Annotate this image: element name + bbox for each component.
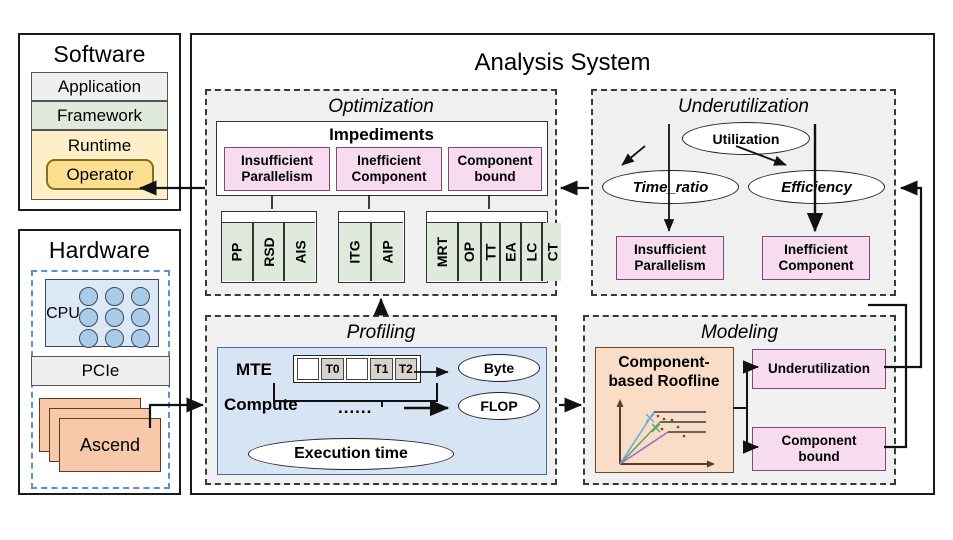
pcie-label: PCIe: [82, 361, 120, 381]
impediment-label-line1: Insufficient: [241, 153, 313, 169]
modeling-section: Modeling Component- based Roofline: [583, 315, 896, 485]
outcome-inefficient-component[interactable]: Inefficient Component: [762, 236, 870, 280]
roofline-label-line2: based Roofline: [608, 373, 719, 392]
utilization-node-label: Utilization: [713, 131, 780, 147]
modeling-output-label-line1: Component: [782, 433, 857, 449]
metric-tab-lc[interactable]: LC: [521, 223, 542, 281]
software-layer-framework-label: Framework: [57, 106, 142, 126]
software-layer-operator-label: Operator: [66, 165, 133, 185]
timeline-cell-t0[interactable]: T0: [321, 358, 343, 380]
cpu-core-dot: [105, 308, 124, 327]
impediment-label-line2: bound: [474, 169, 515, 185]
outcome-label-line1: Inefficient: [784, 242, 848, 258]
roofline-card-label: Component- based Roofline: [596, 352, 732, 394]
efficiency-node-label: Efficiency: [781, 179, 852, 196]
metric-tab-ct[interactable]: CT: [542, 223, 562, 281]
metric-tab-label: OP: [461, 242, 477, 262]
timeline-cell-label: T2: [399, 362, 413, 376]
metric-tab-label: RSD: [261, 237, 277, 267]
roofline-label-line1: Component-: [618, 354, 709, 373]
metric-tab-label: ITG: [347, 240, 363, 263]
impediment-insufficient-parallelism[interactable]: Insufficient Parallelism: [224, 147, 330, 191]
software-layer-framework[interactable]: Framework: [31, 101, 168, 130]
byte-output-node[interactable]: Byte: [458, 354, 540, 382]
timeline-cell-empty[interactable]: [297, 358, 319, 380]
tabgroup-header-strip: [222, 212, 315, 223]
metric-tab-ais[interactable]: AIS: [284, 223, 315, 281]
ascend-label: Ascend: [80, 435, 140, 456]
modeling-output-underutilization[interactable]: Underutilization: [752, 349, 886, 389]
software-layer-operator[interactable]: Operator: [46, 159, 154, 190]
metric-tab-mrt[interactable]: MRT: [427, 223, 458, 281]
metric-tab-op[interactable]: OP: [458, 223, 480, 281]
metric-tab-label: AIS: [292, 240, 308, 263]
roofline-mini-chart: [602, 396, 730, 470]
profiling-section-title: Profiling: [207, 320, 555, 345]
cpu-core-dot: [105, 287, 124, 306]
time-ratio-node-label: Time_ratio: [633, 179, 709, 196]
tabgroup-bound-metrics: MRT OP TT EA LC CT: [426, 211, 548, 283]
cpu-core-dot: [105, 329, 124, 348]
timeline-cell-t1[interactable]: T1: [370, 358, 392, 380]
ascend-card-stack: Ascend: [39, 398, 163, 482]
impediment-component-bound[interactable]: Component bound: [448, 147, 542, 191]
timeline-cell-empty[interactable]: [346, 358, 368, 380]
underutilization-section-title: Underutilization: [593, 94, 894, 119]
modeling-output-label-line2: bound: [798, 449, 839, 465]
pcie-block[interactable]: PCIe: [31, 356, 170, 386]
impediment-inefficient-component[interactable]: Inefficient Component: [336, 147, 442, 191]
metric-tab-label: EA: [502, 242, 518, 261]
profiling-section: Profiling MTE T0 T1 T2 Compute ...... By…: [205, 315, 557, 485]
metric-tab-label: LC: [523, 243, 539, 262]
analysis-system-title: Analysis System: [192, 47, 933, 79]
tabgroup-header-strip: [427, 212, 546, 223]
underutilization-section: Underutilization Utilization Time_ratio …: [591, 89, 896, 296]
outcome-label-line2: Parallelism: [634, 258, 705, 274]
metric-tab-itg[interactable]: ITG: [339, 223, 371, 281]
modeling-output-label: Underutilization: [768, 361, 870, 377]
metric-tab-label: TT: [482, 243, 498, 260]
outcome-label-line1: Insufficient: [634, 242, 706, 258]
execution-time-node[interactable]: Execution time: [248, 438, 454, 470]
cpu-core-dot: [131, 308, 150, 327]
timeline-cell-label: T0: [326, 362, 340, 376]
flop-output-node[interactable]: FLOP: [458, 392, 540, 420]
timeline-cell-label: T1: [374, 362, 388, 376]
metric-tab-label: CT: [544, 243, 560, 262]
hardware-panel: Hardware CPU PCIe Ascend: [18, 229, 181, 495]
time-ratio-node[interactable]: Time_ratio: [602, 170, 739, 204]
software-layer-runtime-label: Runtime: [32, 133, 167, 158]
optimization-section-title: Optimization: [207, 94, 555, 119]
impediment-label-line1: Component: [458, 153, 533, 169]
cpu-core-dot: [79, 329, 98, 348]
utilization-node[interactable]: Utilization: [682, 122, 810, 155]
outcome-insufficient-parallelism[interactable]: Insufficient Parallelism: [616, 236, 724, 280]
metric-tab-rsd[interactable]: RSD: [253, 223, 285, 281]
ascend-card-front[interactable]: Ascend: [59, 418, 161, 472]
execution-time-label: Execution time: [294, 445, 408, 463]
hardware-panel-title: Hardware: [20, 235, 179, 265]
cpu-core-dot: [79, 287, 98, 306]
modeling-output-component-bound[interactable]: Component bound: [752, 427, 886, 471]
tabgroup-header-strip: [339, 212, 403, 223]
impediment-label-line1: Inefficient: [357, 153, 421, 169]
profiling-inner-panel: MTE T0 T1 T2 Compute ...... Byte FLOP Ex…: [217, 347, 547, 475]
impediment-label-line2: Parallelism: [241, 169, 312, 185]
metric-tab-pp[interactable]: PP: [222, 223, 253, 281]
hardware-inner-dashed-region: CPU PCIe Ascend: [31, 270, 170, 489]
byte-output-label: Byte: [484, 360, 514, 376]
metric-tab-tt[interactable]: TT: [481, 223, 500, 281]
cpu-block[interactable]: CPU: [45, 279, 159, 347]
efficiency-node[interactable]: Efficiency: [748, 170, 885, 204]
software-layer-application-label: Application: [58, 77, 141, 97]
software-panel-title: Software: [20, 39, 179, 69]
optimization-section: Optimization Impediments Insufficient Pa…: [205, 89, 557, 296]
software-layer-application[interactable]: Application: [31, 72, 168, 101]
impediments-box: Impediments Insufficient Parallelism Ine…: [216, 121, 548, 196]
profiling-row-compute-label: Compute: [224, 395, 324, 417]
tabgroup-component-metrics: ITG AIP: [338, 211, 405, 283]
metric-tab-label: MRT: [434, 237, 450, 267]
metric-tab-ea[interactable]: EA: [500, 223, 521, 281]
metric-tab-label: PP: [229, 243, 245, 262]
flop-output-label: FLOP: [480, 398, 517, 414]
metric-tab-label: AIP: [380, 240, 396, 263]
timeline-cell-t2[interactable]: T2: [395, 358, 417, 380]
software-layer-runtime[interactable]: Runtime Operator: [31, 130, 168, 200]
tabgroup-parallelism-metrics: PP RSD AIS: [221, 211, 317, 283]
outcome-label-line2: Component: [779, 258, 854, 274]
cpu-core-dot: [131, 287, 150, 306]
impediment-label-line2: Component: [352, 169, 427, 185]
component-based-roofline-card[interactable]: Component- based Roofline: [595, 347, 734, 473]
cpu-core-grid: [79, 287, 155, 342]
impediments-label: Impediments: [217, 124, 546, 146]
compute-ellipsis: ......: [338, 398, 398, 418]
cpu-core-dot: [79, 308, 98, 327]
metric-tab-aip[interactable]: AIP: [371, 223, 403, 281]
mte-timeline[interactable]: T0 T1 T2: [293, 355, 421, 383]
software-panel: Software Application Framework Runtime O…: [18, 33, 181, 211]
cpu-core-dot: [131, 329, 150, 348]
modeling-section-title: Modeling: [585, 320, 894, 345]
